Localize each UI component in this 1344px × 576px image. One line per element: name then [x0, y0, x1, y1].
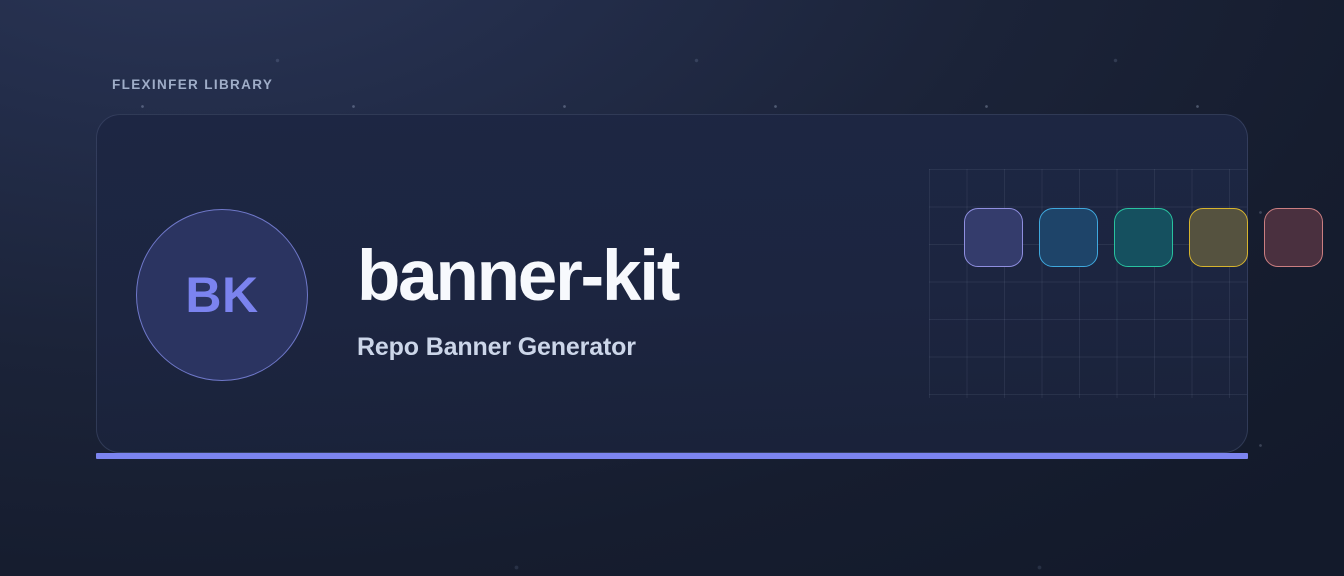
swatch-blue[interactable] [1039, 208, 1098, 267]
grid-pattern-decoration [929, 169, 1248, 398]
swatch-indigo[interactable] [964, 208, 1023, 267]
banner-stage: FLEXINFER LIBRARY BK banner-kit Repo Ban… [0, 0, 1344, 576]
swatch-rose[interactable] [1264, 208, 1323, 267]
banner-title: banner-kit [357, 241, 917, 312]
swatch-teal[interactable] [1114, 208, 1173, 267]
accent-bar [96, 453, 1248, 459]
banner-subtitle: Repo Banner Generator [357, 334, 917, 362]
swatch-row [964, 208, 1323, 267]
eyebrow-label: FLEXINFER LIBRARY [112, 77, 273, 92]
banner-card: BK banner-kit Repo Banner Generator [96, 114, 1248, 453]
avatar-initials: BK [185, 270, 258, 320]
swatch-amber[interactable] [1189, 208, 1248, 267]
avatar: BK [136, 209, 308, 381]
title-block: banner-kit Repo Banner Generator [357, 241, 917, 362]
